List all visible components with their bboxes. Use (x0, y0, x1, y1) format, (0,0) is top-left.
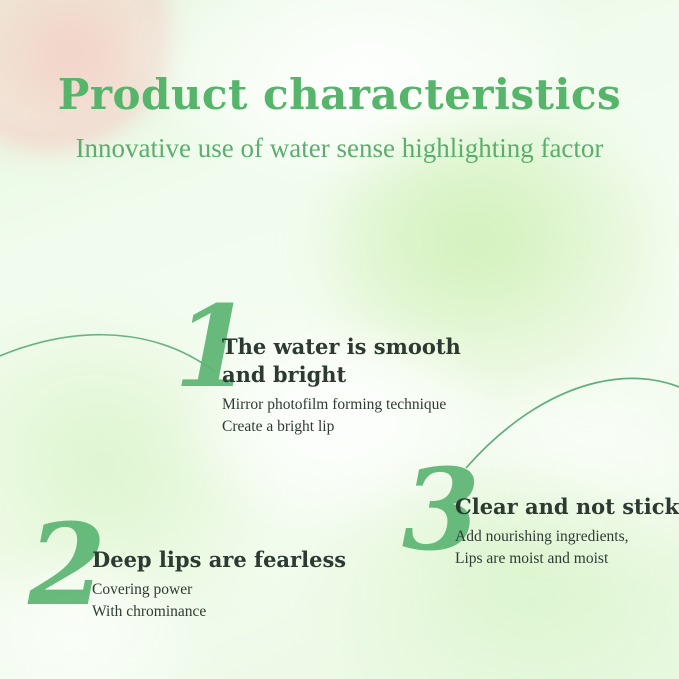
feature-heading-1: The water is smooth and bright (222, 333, 461, 389)
product-characteristics-poster: Product characteristics Innovative use o… (0, 0, 679, 679)
page-subtitle: Innovative use of water sense highlighti… (0, 133, 679, 164)
feature-body-3-line1: Add nourishing ingredients, (455, 526, 679, 548)
feature-heading-3: Clear and not sticky (455, 493, 679, 521)
feature-body-3-line2: Lips are moist and moist (455, 548, 679, 570)
feature-body-1: Mirror photofilm forming technique Creat… (222, 394, 461, 438)
feature-body-1-line2: Create a bright lip (222, 416, 461, 438)
page-title: Product characteristics (0, 70, 679, 119)
feature-block-1: The water is smooth and bright Mirror ph… (222, 333, 461, 438)
feature-body-2: Covering power With chrominance (92, 579, 346, 623)
feature-heading-2: Deep lips are fearless (92, 546, 346, 574)
feature-body-2-line1: Covering power (92, 579, 346, 601)
feature-body-1-line1: Mirror photofilm forming technique (222, 394, 461, 416)
feature-body-3: Add nourishing ingredients, Lips are moi… (455, 526, 679, 570)
feature-heading-1-line2: and bright (222, 361, 461, 389)
feature-heading-2-line1: Deep lips are fearless (92, 546, 346, 574)
feature-body-2-line2: With chrominance (92, 601, 346, 623)
feature-block-2: Deep lips are fearless Covering power Wi… (92, 546, 346, 623)
feature-block-3: Clear and not sticky Add nourishing ingr… (455, 493, 679, 570)
feature-heading-3-line1: Clear and not sticky (455, 493, 679, 521)
feature-heading-1-line1: The water is smooth (222, 333, 461, 361)
